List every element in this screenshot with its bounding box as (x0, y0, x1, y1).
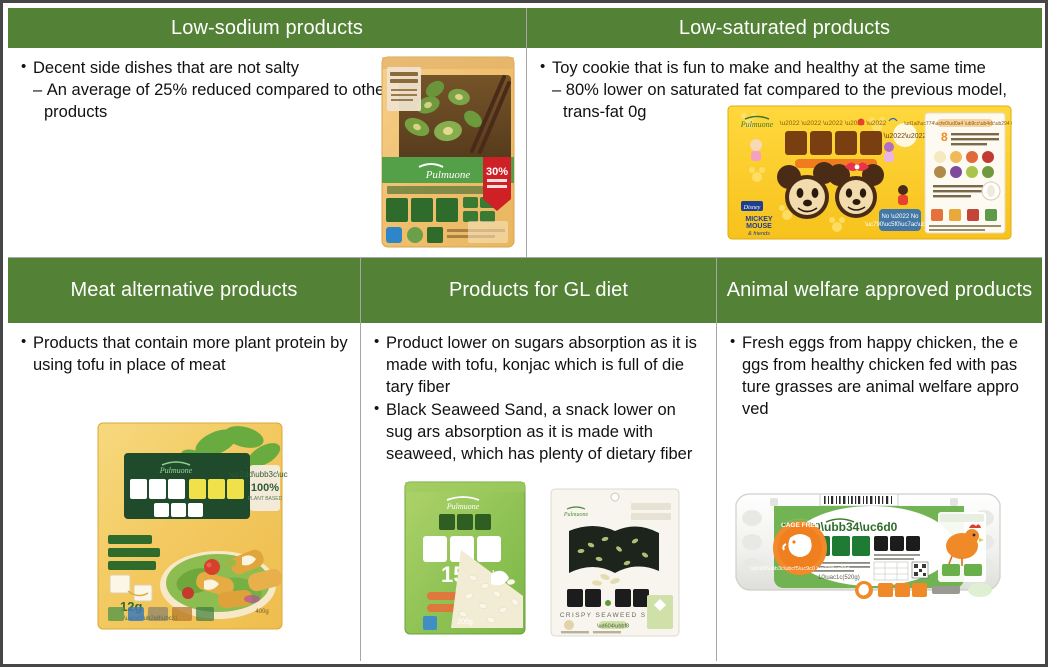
svg-text:Pulmuone: Pulmuone (446, 502, 480, 511)
bullet-item: Products that contain more plant protein… (20, 333, 348, 377)
svg-text:MICKEY: MICKEY (745, 216, 773, 223)
body-low-sodium: Decent side dishes that are not salty An… (8, 48, 526, 257)
table-row: Low-sodium products Decent side dishes t… (8, 8, 1042, 258)
svg-text:\ub3d9\ubb3c\ubcf5\uc9c0 \uc77: \ub3d9\ubb3c\ubcf5\uc9c0 \uc778\uc99d (750, 566, 849, 572)
product-image-dugon-ssal-konjac-tofu-rice-pouch: Pulmuone 15 (399, 478, 531, 638)
slide-canvas: Low-sodium products Decent side dishes t… (0, 0, 1048, 667)
bullet-list: Product lower on sugars absorption as it… (373, 333, 704, 466)
svg-text:& friends: & friends (748, 231, 770, 237)
product-category-table: Low-sodium products Decent side dishes t… (8, 8, 1042, 661)
svg-text:Pulmuone: Pulmuone (563, 512, 589, 518)
svg-text:Pulmuone: Pulmuone (425, 169, 471, 181)
header-low-sodium: Low-sodium products (8, 8, 526, 48)
svg-text:\u2022 \u2022 \u2022 \u2022 \u: \u2022 \u2022 \u2022 \u2022 \u2022 (780, 120, 887, 127)
svg-text:PLANT BASED: PLANT BASED (248, 496, 283, 502)
svg-text:Disney: Disney (743, 205, 761, 211)
product-image-animal-welfare-pasture-eggs-carton: \ud480\ubb34\uc6d0 (722, 478, 1012, 618)
svg-text:\ud1a0\uc774\ucfe0\ud0a4 \ub9c: \ud1a0\uc774\ucfe0\ud0a4 \ub9cc\ub4dc\ub… (904, 121, 1012, 127)
body-animal-welfare: Fresh eggs from happy chicken, the e ggs… (717, 323, 1042, 661)
product-image-toy-cookie-mickey-box: Pulmuone \u2022 \u2022 \u2022 \u2022 \u2… (727, 105, 1012, 240)
cell-low-saturated: Low-saturated products Toy cookie that i… (527, 8, 1042, 258)
bullet-text: Decent side dishes that are not salty (33, 59, 299, 77)
product-image-asak-gochu-pickle-pouch: Pulmuone (373, 53, 523, 251)
svg-text:CAGE FREE: CAGE FREE (781, 522, 820, 529)
cell-gl-diet: Products for GL diet Product lower on su… (361, 258, 717, 661)
header-gl-diet: Products for GL diet (361, 258, 716, 323)
svg-text:200g: 200g (457, 619, 473, 626)
bullet-item: Black Seaweed Sand, a snack lower on sug… (373, 400, 704, 466)
bullet-list: Fresh eggs from happy chicken, the e ggs… (729, 333, 1030, 421)
bullet-text: Products that contain more plant protein… (33, 334, 348, 374)
svg-text:\u2022\u2022: \u2022\u2022 (884, 133, 927, 140)
cell-low-sodium: Low-sodium products Decent side dishes t… (8, 8, 527, 258)
bullet-item: Product lower on sugars absorption as it… (373, 333, 704, 399)
body-meat-alternative: Products that contain more plant protein… (8, 323, 360, 661)
svg-text:100%: 100% (251, 482, 279, 494)
bullet-text: Black Seaweed Sand, a snack lower on sug… (386, 401, 692, 463)
cell-animal-welfare: Animal welfare approved products Fresh e… (717, 258, 1042, 661)
header-meat-alternative: Meat alternative products (8, 258, 360, 323)
svg-text:400g: 400g (255, 609, 268, 615)
header-low-saturated: Low-saturated products (527, 8, 1042, 48)
bullet-text: Product lower on sugars absorption as it… (386, 334, 697, 396)
svg-text:MOUSE: MOUSE (746, 223, 772, 230)
bullet-text: Toy cookie that is fun to make and healt… (552, 59, 986, 77)
svg-text:Pulmuone: Pulmuone (740, 120, 774, 129)
svg-text:30%: 30% (486, 166, 508, 178)
bullet-text: Fresh eggs from happy chicken, the e ggs… (742, 334, 1019, 418)
svg-text:No \u2022 No: No \u2022 No (881, 214, 919, 220)
svg-text:\ud604\ubbf8: \ud604\ubbf8 (597, 624, 629, 630)
svg-text:Pulmuone: Pulmuone (159, 466, 193, 475)
body-gl-diet: Product lower on sugars absorption as it… (361, 323, 716, 661)
body-low-saturated: Toy cookie that is fun to make and healt… (527, 48, 1042, 257)
bullet-item: Fresh eggs from happy chicken, the e ggs… (729, 333, 1030, 421)
svg-text:\uc2dd\ubb3c\uc131: \uc2dd\ubb3c\uc131 (229, 470, 288, 479)
svg-text:\uc790\uc5f0\uc7ac\ub8cc: \uc790\uc5f0\uc7ac\ub8cc (865, 222, 935, 228)
svg-text:8: 8 (941, 130, 948, 144)
bullet-list: Products that contain more plant protein… (20, 333, 348, 377)
header-animal-welfare: Animal welfare approved products (717, 258, 1042, 323)
cell-meat-alternative: Meat alternative products Products that … (8, 258, 361, 661)
svg-text:10\uac1c(520g): 10\uac1c(520g) (818, 575, 860, 581)
product-image-jigu-sikdan-tofu-tender-pouch: Pulmuone (92, 415, 288, 637)
product-image-black-sand-crispy-seaweed-snack: Pulmuone (547, 485, 683, 640)
table-row: Meat alternative products Products that … (8, 258, 1042, 661)
